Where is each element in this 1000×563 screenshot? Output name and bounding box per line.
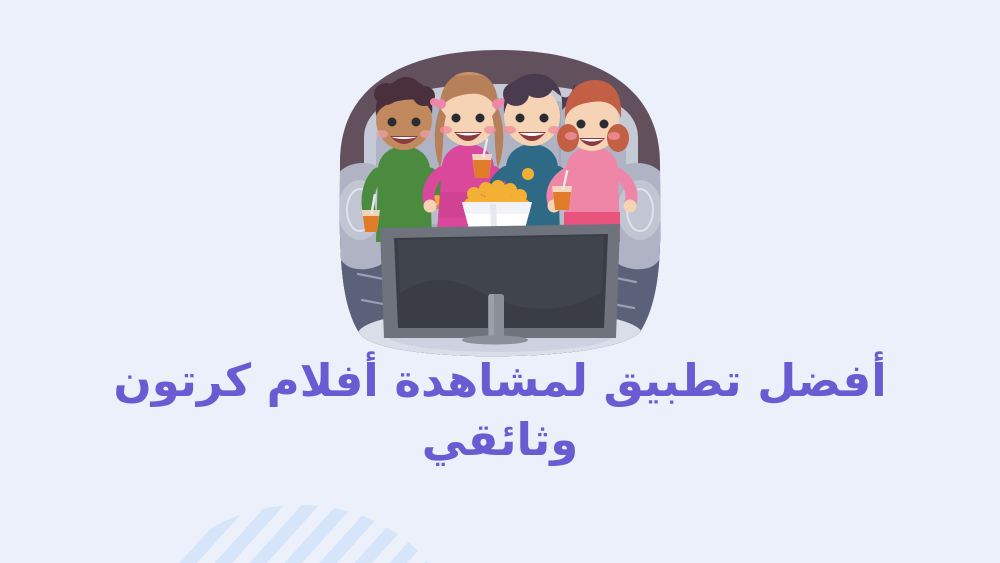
television [380,224,620,345]
stripe-pattern [150,505,450,563]
page-title: أفضل تطبيق لمشاهدة أفلام كرتون وثائقي [0,352,1000,469]
diagonal-stripe-blob [150,505,450,563]
illustration-children-watching-tv [320,42,680,362]
promo-banner: أفضل تطبيق لمشاهدة أفلام كرتون وثائقي [0,0,1000,563]
